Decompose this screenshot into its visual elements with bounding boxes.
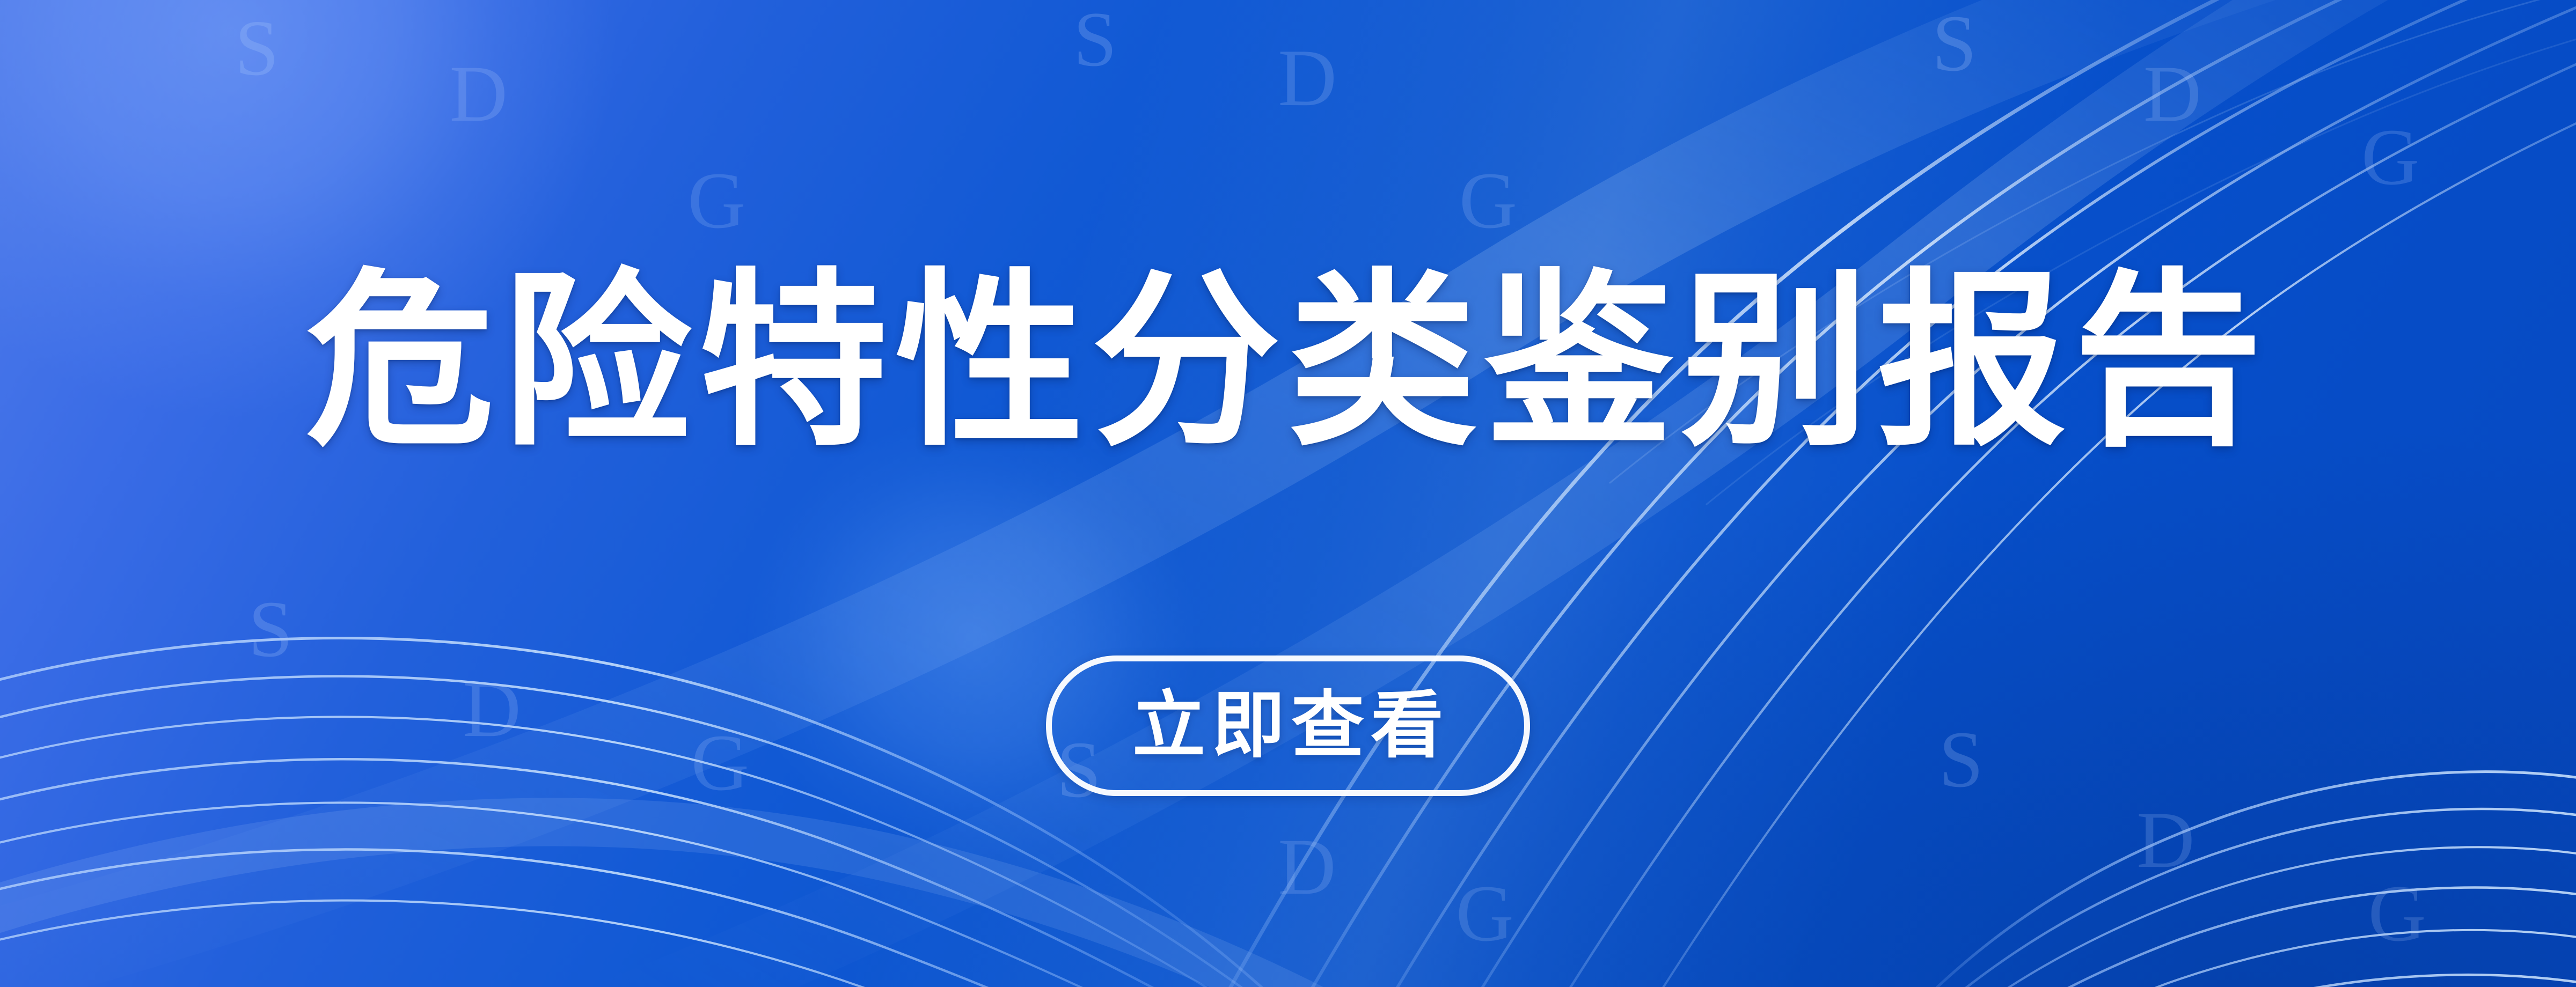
banner-content: 危险特性分类鉴别报告 立即查看 <box>0 0 2576 987</box>
page-title: 危险特性分类鉴别报告 <box>306 264 2270 460</box>
view-now-button-label: 立即查看 <box>1126 689 1450 762</box>
promo-banner: SDGSDGSDGSDGSDGSDG 危险特性分类鉴别报告 立即查看 <box>0 0 2576 987</box>
view-now-button[interactable]: 立即查看 <box>1046 655 1530 796</box>
